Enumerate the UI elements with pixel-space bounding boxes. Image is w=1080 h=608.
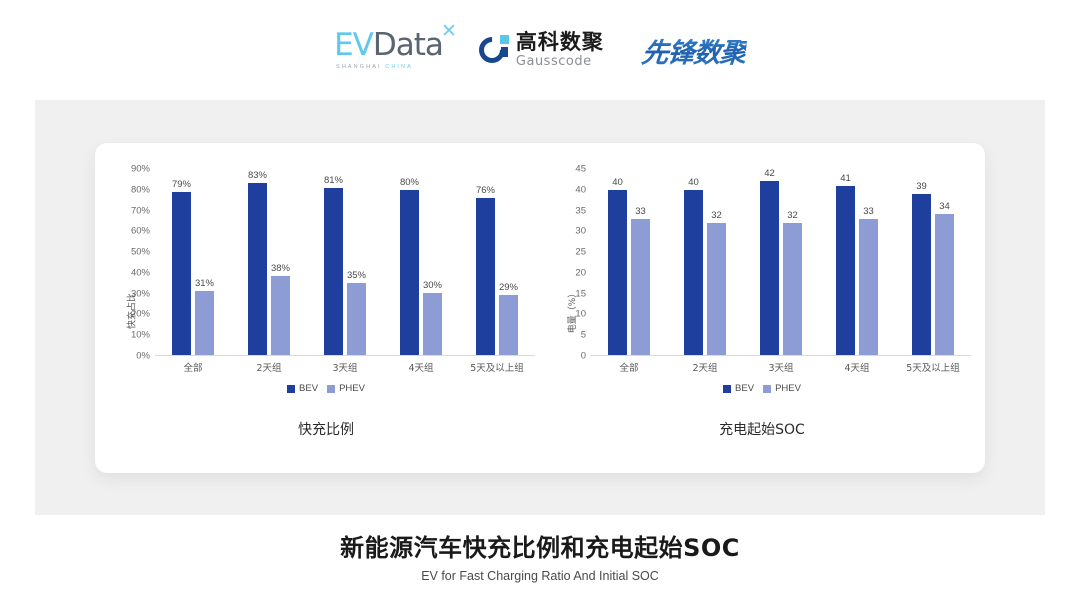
bar-phev[interactable] (783, 223, 802, 355)
gausscode-en-text: Gausscode (516, 55, 604, 68)
y-tick-label: 35 (575, 205, 586, 216)
chart-left-x-axis-labels: 全部2天组3天组4天组5天及以上组 (155, 360, 535, 374)
evdata-ev-text: EV (334, 30, 373, 61)
bar-phev[interactable] (195, 291, 214, 355)
y-tick-label: 25 (575, 247, 586, 258)
bar-value-label: 40 (688, 177, 699, 188)
y-tick-label: 40 (575, 184, 586, 195)
bar-group: 4032 (684, 169, 726, 355)
chart-left-bar-groups: 79%31%83%38%81%35%80%30%76%29% (155, 169, 535, 355)
bar-value-label: 38% (271, 263, 290, 274)
evdata-data-text: Data (373, 30, 443, 61)
footer-title-cn: 新能源汽车快充比例和充电起始SOC (0, 528, 1080, 563)
legend-item-bev[interactable]: BEV (287, 383, 318, 394)
bar-column[interactable]: 81% (324, 169, 343, 355)
y-tick-label: 10% (131, 330, 150, 341)
bar-group: 4033 (608, 169, 650, 355)
y-tick-label: 20 (575, 267, 586, 278)
y-tick-label: 70% (131, 205, 150, 216)
x-tick-label: 5天及以上组 (459, 360, 535, 374)
chart-right-y-axis: 051015202530354045 (547, 169, 591, 356)
bar-value-label: 30% (423, 280, 442, 291)
bar-phev[interactable] (423, 293, 442, 355)
bar-phev[interactable] (499, 295, 518, 355)
y-tick-label: 5 (581, 330, 586, 341)
chart-initial-soc: 电量（%） 051015202530354045 403340324232413… (547, 161, 977, 461)
bar-column[interactable]: 39 (912, 169, 931, 355)
y-tick-label: 30 (575, 226, 586, 237)
bar-bev[interactable] (476, 198, 495, 355)
y-tick-label: 20% (131, 309, 150, 320)
legend-label: PHEV (339, 383, 365, 394)
bar-value-label: 29% (499, 282, 518, 293)
bar-column[interactable]: 38% (271, 169, 290, 355)
chart-right-bar-groups: 40334032423241333934 (591, 169, 971, 355)
legend-label: PHEV (775, 383, 801, 394)
chart-left-baseline (155, 355, 535, 356)
gausscode-cn-text: 高科数聚 (516, 32, 604, 53)
gausscode-logo: 高科数聚 Gausscode (479, 32, 604, 68)
legend-item-bev[interactable]: BEV (723, 383, 754, 394)
bar-phev[interactable] (935, 214, 954, 355)
bar-column[interactable]: 32 (707, 169, 726, 355)
bar-group: 3934 (912, 169, 954, 355)
bar-phev[interactable] (859, 219, 878, 355)
xianfeng-shuju-logo: 先锋数聚 (640, 31, 748, 70)
y-tick-label: 90% (131, 164, 150, 175)
bar-bev[interactable] (836, 186, 855, 355)
bar-bev[interactable] (248, 183, 267, 355)
chart-right-x-axis-labels: 全部2天组3天组4天组5天及以上组 (591, 360, 971, 374)
evdata-country-text: CHINA (385, 64, 413, 70)
chart-left-y-axis: 0%10%20%30%40%50%60%70%80%90% (111, 169, 155, 356)
bar-column[interactable]: 80% (400, 169, 419, 355)
footer-title-en: EV for Fast Charging Ratio And Initial S… (0, 569, 1080, 583)
y-tick-label: 30% (131, 288, 150, 299)
bar-column[interactable]: 29% (499, 169, 518, 355)
bar-column[interactable]: 35% (347, 169, 366, 355)
legend-swatch-icon (327, 385, 335, 393)
y-tick-label: 0% (136, 351, 150, 362)
bar-value-label: 32 (787, 210, 798, 221)
evdata-wordmark: EVData ✕ (334, 30, 443, 61)
bar-value-label: 31% (195, 278, 214, 289)
bar-phev[interactable] (631, 219, 650, 355)
bar-bev[interactable] (608, 190, 627, 355)
bar-bev[interactable] (324, 188, 343, 355)
legend-swatch-icon (763, 385, 771, 393)
bar-value-label: 33 (863, 206, 874, 217)
bar-value-label: 32 (711, 210, 722, 221)
charts-card: 快充占比 0%10%20%30%40%50%60%70%80%90% 79%31… (95, 143, 985, 473)
bar-column[interactable]: 34 (935, 169, 954, 355)
chart-right-caption: 充电起始SOC (547, 419, 977, 439)
x-tick-label: 3天组 (307, 360, 383, 374)
gausscode-wordmark: 高科数聚 Gausscode (516, 32, 604, 68)
x-tick-label: 3天组 (743, 360, 819, 374)
evdata-subtitle: SHANGHAI CHINA (334, 65, 413, 71)
bar-value-label: 40 (612, 177, 623, 188)
bar-column[interactable]: 42 (760, 169, 779, 355)
y-tick-label: 0 (581, 351, 586, 362)
chart-left-caption: 快充比例 (111, 419, 541, 439)
y-tick-label: 50% (131, 247, 150, 258)
bar-column[interactable]: 40 (684, 169, 703, 355)
bar-bev[interactable] (400, 190, 419, 355)
x-tick-label: 全部 (155, 360, 231, 374)
chart-right-plot-area: 051015202530354045 40334032423241333934 (591, 169, 971, 356)
bar-column[interactable]: 40 (608, 169, 627, 355)
evdata-cross-icon: ✕ (441, 22, 457, 41)
x-tick-label: 5天及以上组 (895, 360, 971, 374)
bar-phev[interactable] (271, 276, 290, 355)
legend-swatch-icon (723, 385, 731, 393)
bar-value-label: 42 (764, 168, 775, 179)
bar-value-label: 80% (400, 177, 419, 188)
bar-value-label: 79% (172, 179, 191, 190)
legend-label: BEV (735, 383, 754, 394)
y-tick-label: 60% (131, 226, 150, 237)
x-tick-label: 4天组 (819, 360, 895, 374)
y-tick-label: 15 (575, 288, 586, 299)
evdata-city-text: SHANGHAI (336, 64, 382, 70)
legend-label: BEV (299, 383, 318, 394)
chart-left-legend: BEVPHEV (111, 383, 541, 394)
y-tick-label: 80% (131, 184, 150, 195)
legend-item-phev[interactable]: PHEV (763, 383, 801, 394)
bar-value-label: 35% (347, 270, 366, 281)
bar-group: 83%38% (248, 169, 290, 355)
x-tick-label: 4天组 (383, 360, 459, 374)
bar-group: 79%31% (172, 169, 214, 355)
chart-right-legend: BEVPHEV (547, 383, 977, 394)
bar-bev[interactable] (684, 190, 703, 355)
evdata-logo: EVData ✕ SHANGHAI CHINA (334, 30, 443, 71)
bar-column[interactable]: 33 (859, 169, 878, 355)
bar-value-label: 33 (635, 206, 646, 217)
x-tick-label: 全部 (591, 360, 667, 374)
gausscode-mark-icon (479, 35, 509, 65)
bar-group: 76%29% (476, 169, 518, 355)
y-tick-label: 45 (575, 164, 586, 175)
bar-group: 81%35% (324, 169, 366, 355)
chart-fast-charging-ratio: 快充占比 0%10%20%30%40%50%60%70%80%90% 79%31… (111, 161, 541, 461)
bar-value-label: 76% (476, 185, 495, 196)
x-tick-label: 2天组 (667, 360, 743, 374)
slide-footer: 新能源汽车快充比例和充电起始SOC EV for Fast Charging R… (0, 528, 1080, 583)
legend-item-phev[interactable]: PHEV (327, 383, 365, 394)
legend-swatch-icon (287, 385, 295, 393)
bar-column[interactable]: 32 (783, 169, 802, 355)
bar-value-label: 39 (916, 181, 927, 192)
bar-column[interactable]: 33 (631, 169, 650, 355)
chart-left-plot-area: 0%10%20%30%40%50%60%70%80%90% 79%31%83%3… (155, 169, 535, 356)
bar-group: 4133 (836, 169, 878, 355)
bar-phev[interactable] (707, 223, 726, 355)
bar-bev[interactable] (760, 181, 779, 355)
bar-bev[interactable] (912, 194, 931, 355)
slide-root: EVData ✕ SHANGHAI CHINA 高科数聚 Gausscode 先… (0, 0, 1080, 608)
brand-logo-bar: EVData ✕ SHANGHAI CHINA 高科数聚 Gausscode 先… (0, 22, 1080, 78)
bar-phev[interactable] (347, 283, 366, 355)
bar-column[interactable]: 31% (195, 169, 214, 355)
chart-right-baseline (591, 355, 971, 356)
bar-column[interactable]: 30% (423, 169, 442, 355)
bar-column[interactable]: 76% (476, 169, 495, 355)
y-tick-label: 40% (131, 267, 150, 278)
bar-value-label: 83% (248, 170, 267, 181)
x-tick-label: 2天组 (231, 360, 307, 374)
bar-value-label: 41 (840, 173, 851, 184)
bar-column[interactable]: 41 (836, 169, 855, 355)
bar-group: 80%30% (400, 169, 442, 355)
bar-value-label: 34 (939, 201, 950, 212)
bar-group: 4232 (760, 169, 802, 355)
bar-value-label: 81% (324, 175, 343, 186)
y-tick-label: 10 (575, 309, 586, 320)
bar-column[interactable]: 83% (248, 169, 267, 355)
bar-bev[interactable] (172, 192, 191, 355)
bar-column[interactable]: 79% (172, 169, 191, 355)
